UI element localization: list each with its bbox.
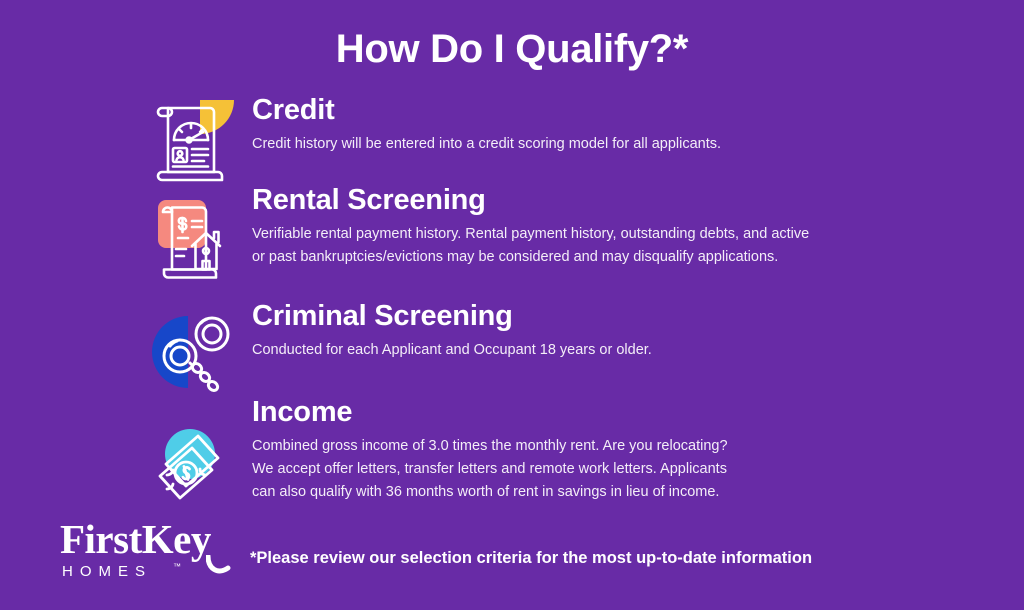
income-body-line-3: can also qualify with 36 months worth of… xyxy=(252,481,952,504)
rental-heading: Rental Screening xyxy=(252,186,952,215)
criminal-body-line-1: Conducted for each Applicant and Occupan… xyxy=(252,339,952,362)
handcuffs-icon xyxy=(148,308,244,400)
banknotes-dollar-icon xyxy=(148,420,244,512)
logo-key-swoosh-icon xyxy=(206,555,232,577)
rental-text-block: Rental Screening Verifiable rental payme… xyxy=(252,186,952,269)
rental-body-line-2: or past bankruptcies/evictions may be co… xyxy=(252,246,952,269)
income-body-line-1: Combined gross income of 3.0 times the m… xyxy=(252,435,952,458)
criminal-heading: Criminal Screening xyxy=(252,302,952,331)
credit-text-block: Credit Credit history will be entered in… xyxy=(252,96,952,156)
income-text-block: Income Combined gross income of 3.0 time… xyxy=(252,398,952,504)
selection-criteria-footnote: *Please review our selection criteria fo… xyxy=(250,549,812,568)
income-heading: Income xyxy=(252,398,952,427)
logo-subtext: HOMES xyxy=(62,563,152,580)
logo-wordmark: FirstKey xyxy=(60,519,211,560)
firstkey-homes-logo: FirstKey HOMES ™ xyxy=(56,519,256,589)
income-body-line-2: We accept offer letters, transfer letter… xyxy=(252,458,952,481)
credit-report-gauge-icon xyxy=(148,96,244,188)
credit-body-line-1: Credit history will be entered into a cr… xyxy=(252,133,952,156)
rental-body-line-1: Verifiable rental payment history. Renta… xyxy=(252,223,952,246)
logo-trademark: ™ xyxy=(173,562,181,571)
criminal-text-block: Criminal Screening Conducted for each Ap… xyxy=(252,302,952,362)
page-title: How Do I Qualify?* xyxy=(0,27,1024,71)
qualification-criteria-graphic: How Do I Qualify?* xyxy=(0,0,1024,610)
credit-heading: Credit xyxy=(252,96,952,125)
rental-invoice-house-icon xyxy=(148,194,244,286)
